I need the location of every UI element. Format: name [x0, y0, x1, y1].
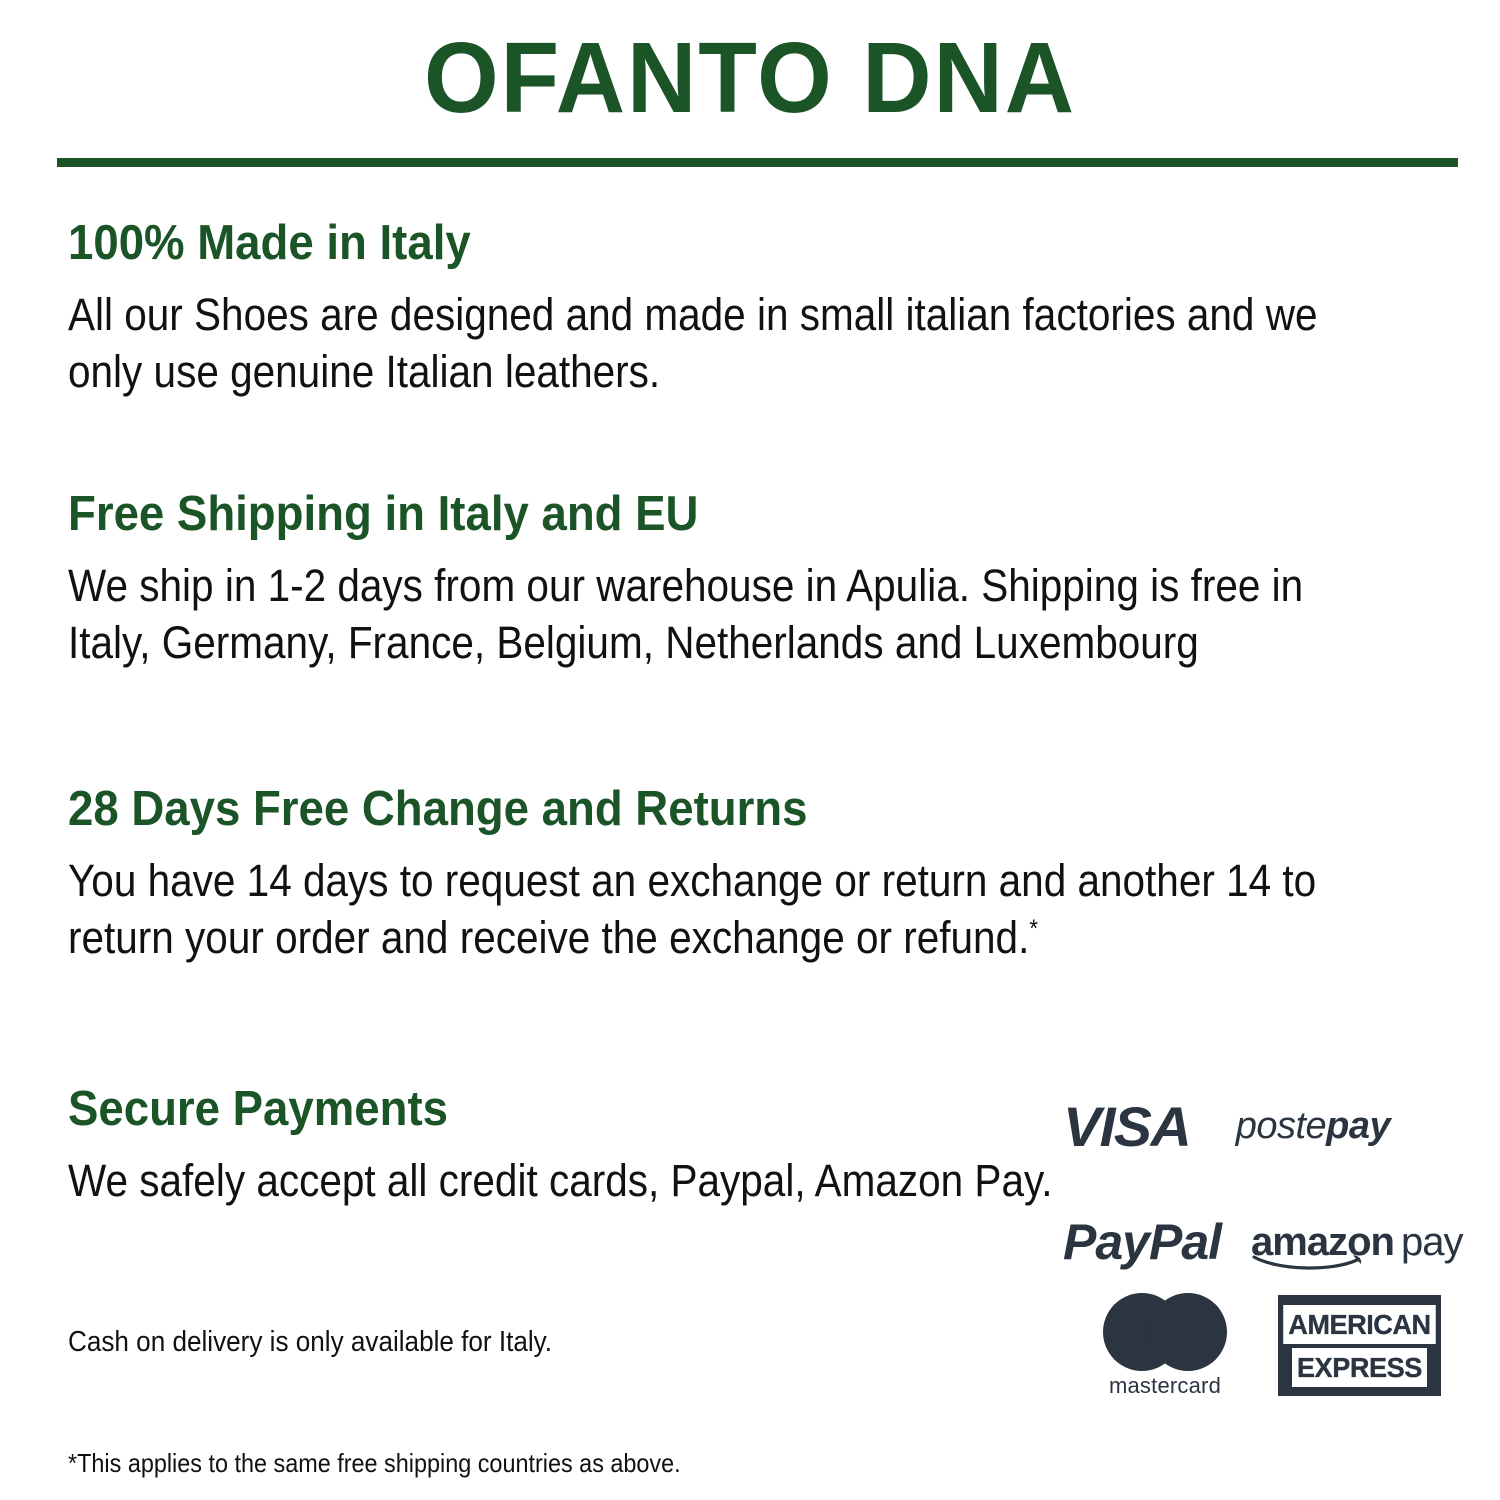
section-heading-free-shipping: Free Shipping in Italy and EU [68, 485, 1370, 543]
amazon-pay-icon: amazonpay [1251, 1222, 1462, 1262]
ofanto-dna-info-panel: OFANTO DNA 100% Made in Italy All our Sh… [0, 0, 1500, 1500]
footnote-marker: * [1029, 916, 1038, 943]
visa-icon: VISA [1063, 1094, 1190, 1159]
section-free-shipping: Free Shipping in Italy and EU We ship in… [68, 485, 1468, 671]
paypal-icon: PayPal [1063, 1213, 1221, 1271]
section-body-free-returns: You have 14 days to request an exchange … [68, 852, 1328, 966]
section-heading-free-returns: 28 Days Free Change and Returns [68, 780, 1370, 838]
page-title: OFANTO DNA [30, 22, 1470, 134]
section-heading-secure-payments: Secure Payments [68, 1080, 1085, 1138]
header-divider [57, 158, 1458, 167]
cash-on-delivery-note: Cash on delivery is only available for I… [68, 1325, 552, 1359]
amex-icon: AMERICAN EXPRESS [1278, 1295, 1441, 1396]
postepay-icon-part2: pay [1326, 1105, 1390, 1147]
mastercard-circles-icon [1100, 1293, 1230, 1371]
section-secure-payments: Secure Payments We safely accept all cre… [68, 1080, 1162, 1209]
section-body-made-in-italy: All our Shoes are designed and made in s… [68, 286, 1328, 400]
section-body-free-shipping: We ship in 1-2 days from our warehouse i… [68, 557, 1328, 671]
payment-methods: VISA postepay PayPal amazonpay [1055, 1088, 1455, 1418]
amex-line-2: EXPRESS [1292, 1348, 1427, 1387]
payment-row-2: PayPal amazonpay [1063, 1213, 1455, 1271]
postepay-icon-part1: poste [1236, 1105, 1326, 1147]
section-made-in-italy: 100% Made in Italy All our Shoes are des… [68, 214, 1468, 400]
mastercard-wordmark: mastercard [1100, 1373, 1230, 1399]
amazon-swoosh-icon [1253, 1253, 1381, 1271]
section-body-free-returns-text: You have 14 days to request an exchange … [68, 855, 1316, 963]
mastercard-icon: mastercard [1100, 1293, 1230, 1398]
section-body-secure-payments: We safely accept all credit cards, Paypa… [68, 1152, 1052, 1209]
section-heading-made-in-italy: 100% Made in Italy [68, 214, 1370, 272]
amazon-pay-icon-part2: pay [1401, 1220, 1463, 1264]
section-free-returns: 28 Days Free Change and Returns You have… [68, 780, 1468, 966]
payment-row-3: mastercard AMERICAN EXPRESS [1100, 1293, 1460, 1398]
amex-line-1: AMERICAN [1283, 1305, 1435, 1344]
payment-row-1: VISA postepay [1063, 1094, 1455, 1159]
postepay-icon: postepay [1236, 1105, 1390, 1148]
footnote-text: *This applies to the same free shipping … [68, 1448, 681, 1478]
